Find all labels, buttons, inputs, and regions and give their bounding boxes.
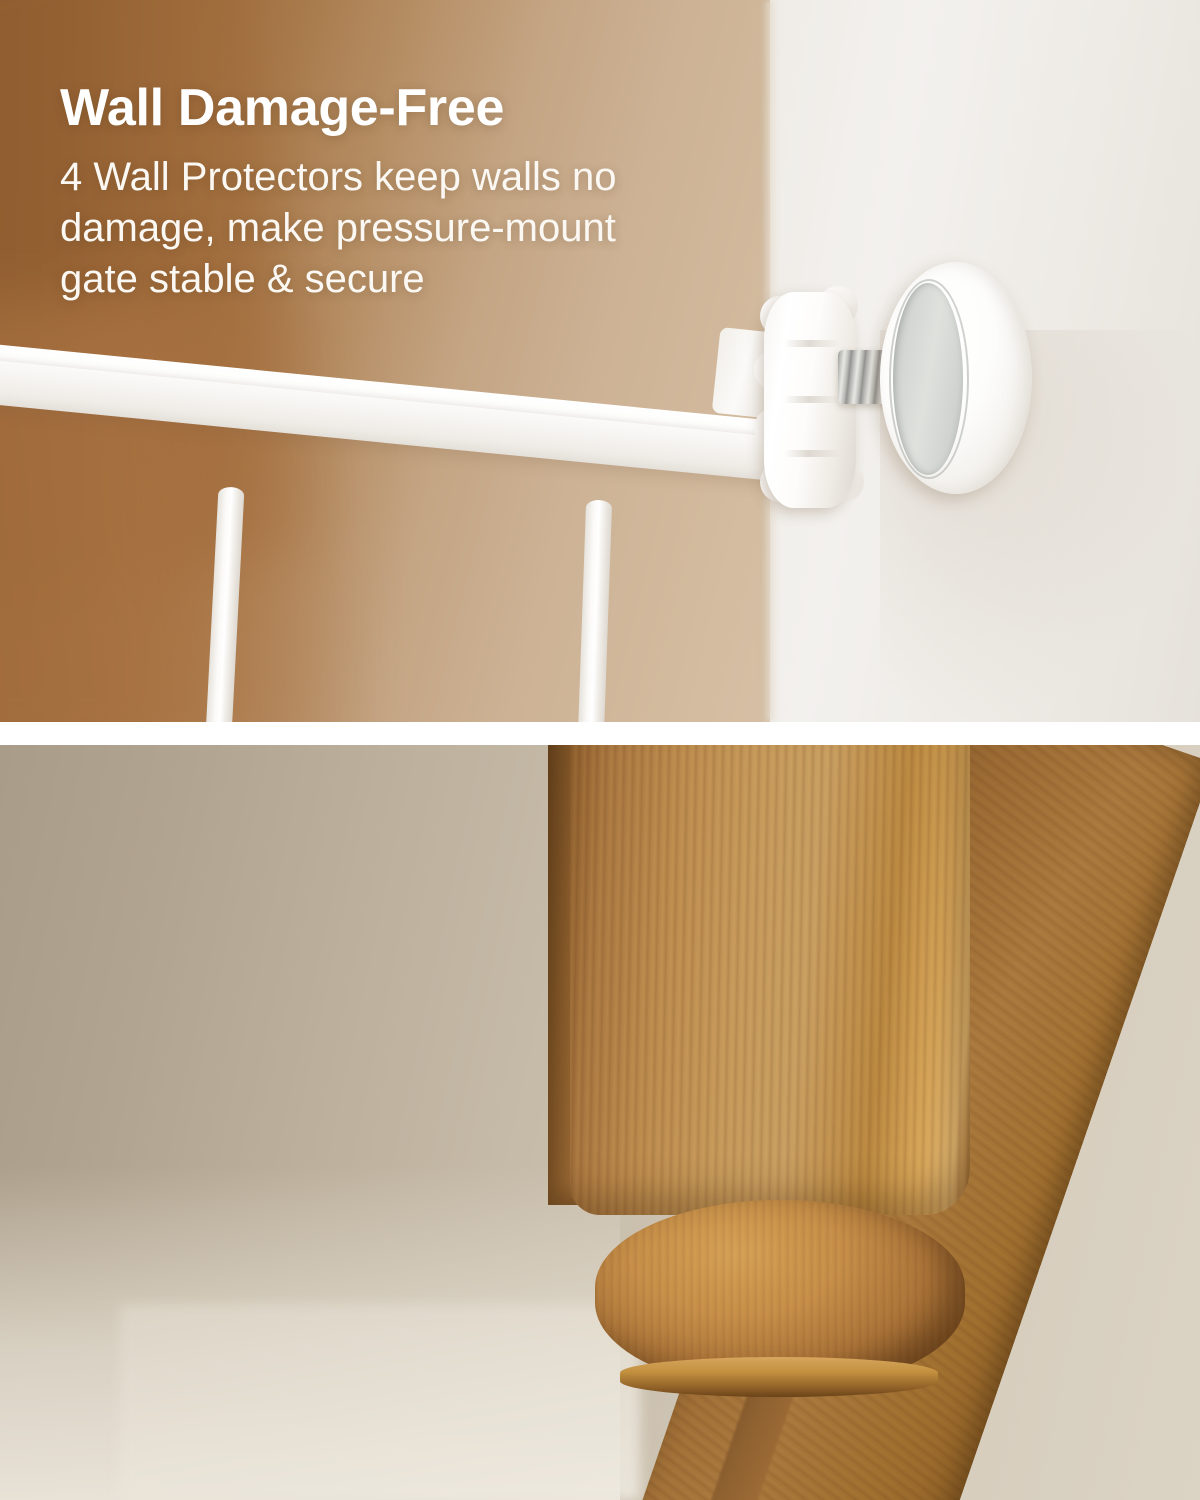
top-panel-body-line-3: gate stable & secure [60, 254, 800, 305]
knob-ridge [784, 396, 840, 403]
top-panel-body-line-1: 4 Wall Protectors keep walls no [60, 152, 800, 203]
wall-protector-pad-rim [889, 279, 969, 479]
panel-versatile-y-shape-design: Versatile Y Shape Design 2 Free Y-spindl… [0, 745, 1200, 1500]
wood-bulb-collar [620, 1357, 938, 1397]
page-title-wall-damage-free: Wall Damage-Free [60, 78, 800, 138]
panel-divider [0, 722, 1200, 745]
wood-newel-column [570, 745, 970, 1215]
product-feature-image: Wall Damage-Free 4 Wall Protectors keep … [0, 0, 1200, 1500]
knob-ridge [784, 340, 840, 347]
panel-wall-damage-free: Wall Damage-Free 4 Wall Protectors keep … [0, 0, 1200, 722]
top-panel-text-block: Wall Damage-Free 4 Wall Protectors keep … [60, 78, 800, 305]
top-panel-body-line-2: damage, make pressure-mount [60, 203, 800, 254]
floor-blur [120, 1305, 640, 1500]
knob-ridge [784, 450, 840, 457]
